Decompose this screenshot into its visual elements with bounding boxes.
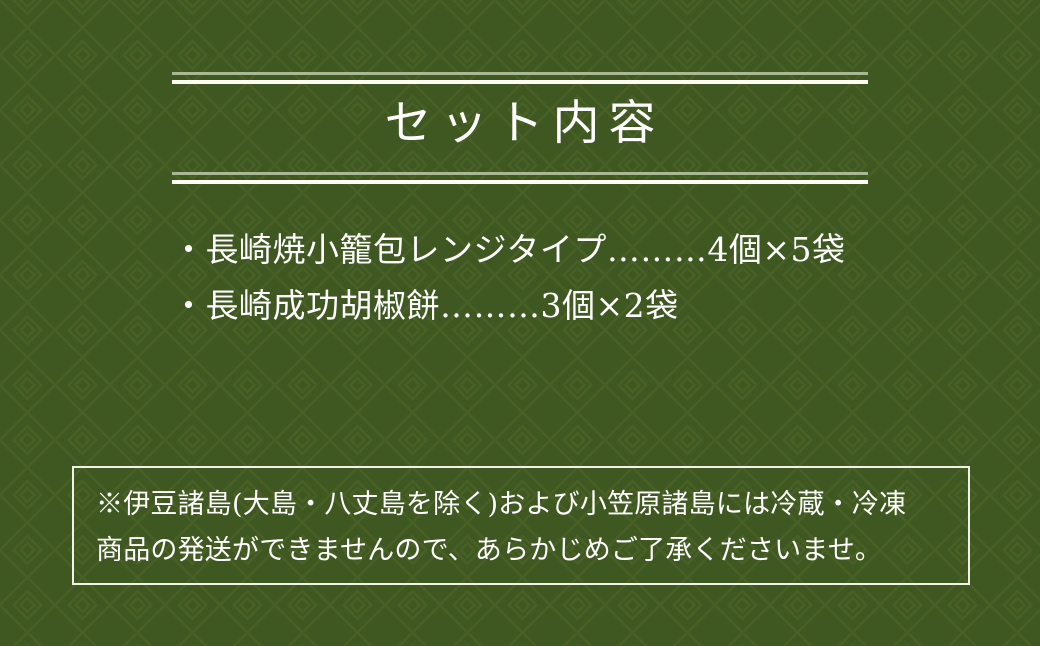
title-rule-top-thick bbox=[172, 80, 868, 84]
list-item: ・長崎焼小籠包レンジタイプ………4個×5袋 bbox=[172, 222, 932, 278]
list-item: ・長崎成功胡椒餅………3個×2袋 bbox=[172, 278, 932, 334]
shipping-notice-text: ※伊豆諸島(大島・八丈島を除く)および小笠原諸島には冷蔵・冷凍 商品の発送ができ… bbox=[96, 482, 954, 574]
set-contents-panel: セット内容 ・長崎焼小籠包レンジタイプ………4個×5袋 ・長崎成功胡椒餅………3… bbox=[0, 0, 1040, 646]
shipping-notice-line-1: ※伊豆諸島(大島・八丈島を除く)および小笠原諸島には冷蔵・冷凍 bbox=[96, 482, 954, 528]
set-contents-list: ・長崎焼小籠包レンジタイプ………4個×5袋 ・長崎成功胡椒餅………3個×2袋 bbox=[172, 222, 932, 334]
title-rule-bottom-thick bbox=[172, 180, 868, 184]
page-title: セット内容 bbox=[0, 94, 1040, 154]
title-rule-top bbox=[172, 72, 868, 84]
shipping-notice-line-2: 商品の発送ができませんので、あらかじめご了承くださいませ。 bbox=[96, 528, 954, 574]
shipping-notice-box: ※伊豆諸島(大島・八丈島を除く)および小笠原諸島には冷蔵・冷凍 商品の発送ができ… bbox=[72, 466, 970, 585]
title-rule-bottom bbox=[172, 172, 868, 184]
